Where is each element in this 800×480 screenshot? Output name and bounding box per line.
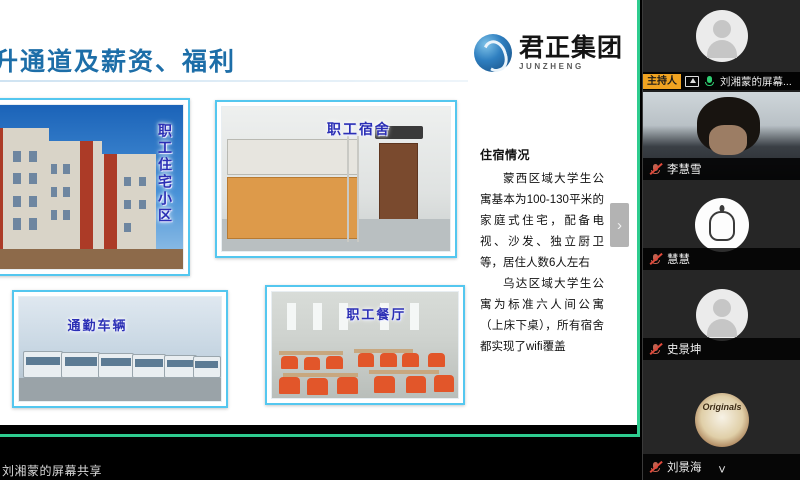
photo-buses: 通勤车辆 (12, 290, 228, 408)
slide-body-text: 住宿情况 蒙西区域大学生公寓基本为100-130平米的家庭式住宅，配备电视、沙发… (480, 145, 604, 358)
junzheng-logo: 君正集团 JUNZHENG (474, 34, 623, 72)
chevron-right-icon[interactable]: › (610, 203, 629, 247)
logo-text-cn: 君正集团 (519, 36, 623, 61)
body-paragraph-1: 蒙西区域大学生公寓基本为100-130平米的家庭式住宅，配备电视、沙发、独立厨卫… (480, 169, 604, 274)
shared-screen-region: 晋升通道及薪资、福利 君正集团 JUNZHENG (0, 0, 640, 437)
participant-tile[interactable]: 史景坤 (643, 270, 800, 360)
title-divider (0, 80, 468, 82)
body-paragraph-2: 乌达区域大学生公寓为标准六人间公寓（上床下桌），所有宿舍都实现了wifi覆盖 (480, 274, 604, 358)
photo-apartments: 职工住宅小区 (0, 98, 190, 276)
participant-tile[interactable]: 李慧雪 (643, 92, 800, 180)
host-share-title: 刘湘蒙的屏幕... (720, 74, 792, 89)
bottom-strip: 刘湘蒙的屏幕共享 (0, 440, 640, 480)
host-badge: 主持人 (643, 74, 681, 89)
participant-name: 史景坤 (667, 341, 702, 357)
generic-person-avatar (696, 10, 748, 62)
microphone-off-icon[interactable] (649, 163, 662, 176)
microphone-off-icon[interactable] (649, 461, 662, 474)
host-share-bar[interactable]: 主持人 刘湘蒙的屏幕... (643, 72, 800, 92)
participant-name: 慧慧 (667, 251, 690, 267)
screen-share-icon (685, 76, 699, 87)
zoom-meeting-window: 晋升通道及薪资、福利 君正集团 JUNZHENG (0, 0, 800, 480)
microphone-off-icon[interactable] (649, 253, 662, 266)
participant-name: 李慧雪 (667, 161, 702, 177)
body-heading: 住宿情况 (480, 145, 604, 166)
caption-photo-apartments: 职工住宅小区 (155, 123, 175, 225)
participant-tile[interactable]: 慧慧 (643, 180, 800, 270)
participant-tile[interactable] (643, 0, 800, 72)
microphone-on-icon[interactable] (703, 75, 716, 88)
photo-dorm: 职工宿舍 (215, 100, 457, 258)
caption-photo-buses: 通勤车辆 (67, 315, 127, 334)
logo-text-en: JUNZHENG (519, 63, 623, 71)
caption-photo-dorm: 职工宿舍 (327, 119, 391, 139)
participant-tile[interactable]: Originals 刘景海 ˅ (643, 360, 800, 480)
chevron-down-icon[interactable]: ˅ (709, 460, 735, 478)
originals-product-avatar: Originals (695, 393, 749, 447)
generic-person-avatar (696, 289, 748, 341)
slide-title: 晋升通道及薪资、福利 (0, 42, 236, 78)
participant-name: 刘景海 (667, 459, 702, 475)
share-owner-label: 刘湘蒙的屏幕共享 (2, 462, 102, 479)
presentation-slide[interactable]: 晋升通道及薪资、福利 君正集团 JUNZHENG (0, 0, 637, 425)
dorm-door (379, 143, 418, 227)
avatar-label: Originals (695, 402, 749, 412)
company-logo-icon (474, 34, 512, 72)
photo-canteen: 职工餐厅 (265, 285, 465, 405)
caption-photo-canteen: 职工餐厅 (346, 304, 406, 323)
microphone-off-icon[interactable] (649, 343, 662, 356)
drawing-avatar (695, 198, 749, 252)
participant-filmstrip[interactable]: 主持人 刘湘蒙的屏幕... 李慧雪 慧慧 (642, 0, 800, 480)
